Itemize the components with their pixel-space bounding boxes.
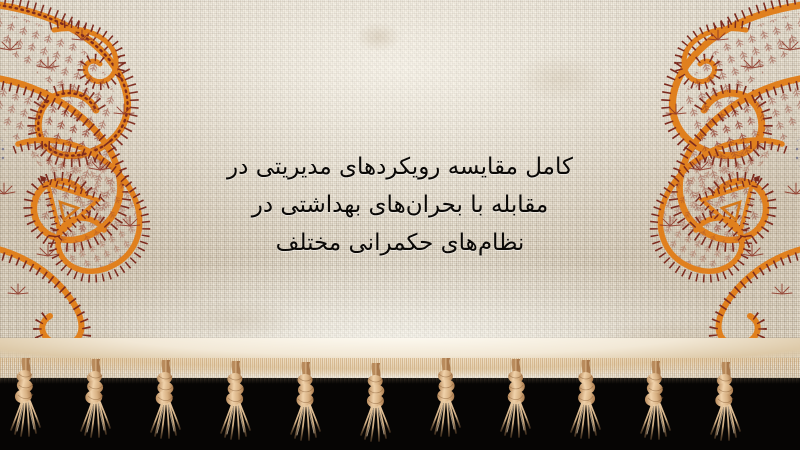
tassel — [428, 358, 464, 444]
tassel — [708, 362, 744, 448]
tassel — [568, 360, 604, 446]
title-line-3: نظام‌های حکمرانی مختلف — [168, 224, 632, 262]
title-line-2: مقابله با بحران‌های بهداشتی در — [168, 186, 632, 224]
tassel — [498, 359, 534, 445]
tassel — [358, 363, 394, 449]
tassel — [638, 361, 674, 447]
tassel — [78, 359, 114, 445]
tassel-fringe — [0, 338, 800, 450]
slide-canvas: کامل مقایسه رویکردهای مدیریتی در مقابله … — [0, 0, 800, 450]
tassel — [8, 358, 44, 444]
title-line-1: کامل مقایسه رویکردهای مدیریتی در — [168, 148, 632, 186]
tassel — [148, 360, 184, 446]
tassel — [218, 361, 254, 447]
tassel — [288, 362, 324, 448]
fabric-frayed-fuzz — [0, 358, 800, 384]
slide-title: کامل مقایسه رویکردهای مدیریتی در مقابله … — [168, 148, 632, 262]
